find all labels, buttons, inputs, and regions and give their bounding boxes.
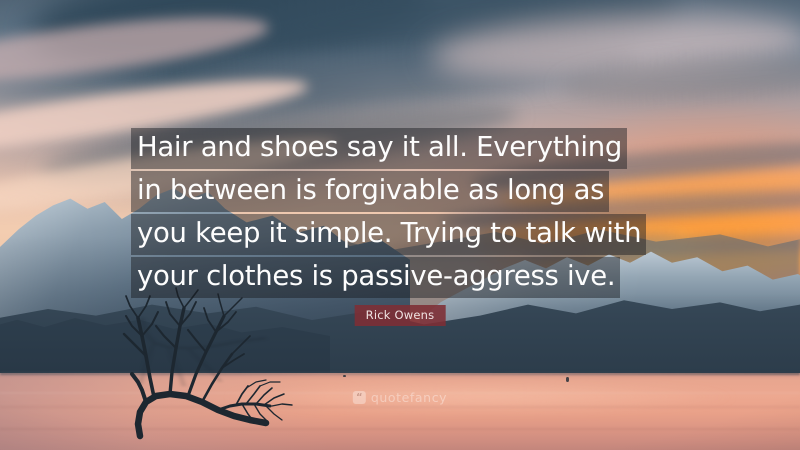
quote-line: you keep it simple. Trying to talk with: [131, 214, 646, 255]
distant-speck: [343, 375, 346, 377]
quote-line: in between is forgivable as long as: [131, 171, 609, 212]
quotefancy-watermark: “ quotefancy: [353, 390, 447, 405]
lone-tree-silhouette: [96, 286, 296, 436]
quote-block: Hair and shoes say it all. Everything in…: [131, 128, 671, 300]
watermark-brand: quotefancy: [371, 390, 447, 405]
quote-line: Hair and shoes say it all. Everything: [131, 128, 627, 169]
quote-author: Rick Owens: [355, 305, 446, 326]
wallpaper-canvas: Hair and shoes say it all. Everything in…: [0, 0, 800, 450]
quote-mark-icon: “: [353, 391, 366, 404]
quote-line: your clothes is passive-aggress ive.: [131, 257, 620, 298]
lake-sheen: [220, 380, 740, 414]
distant-speck: [566, 377, 569, 382]
